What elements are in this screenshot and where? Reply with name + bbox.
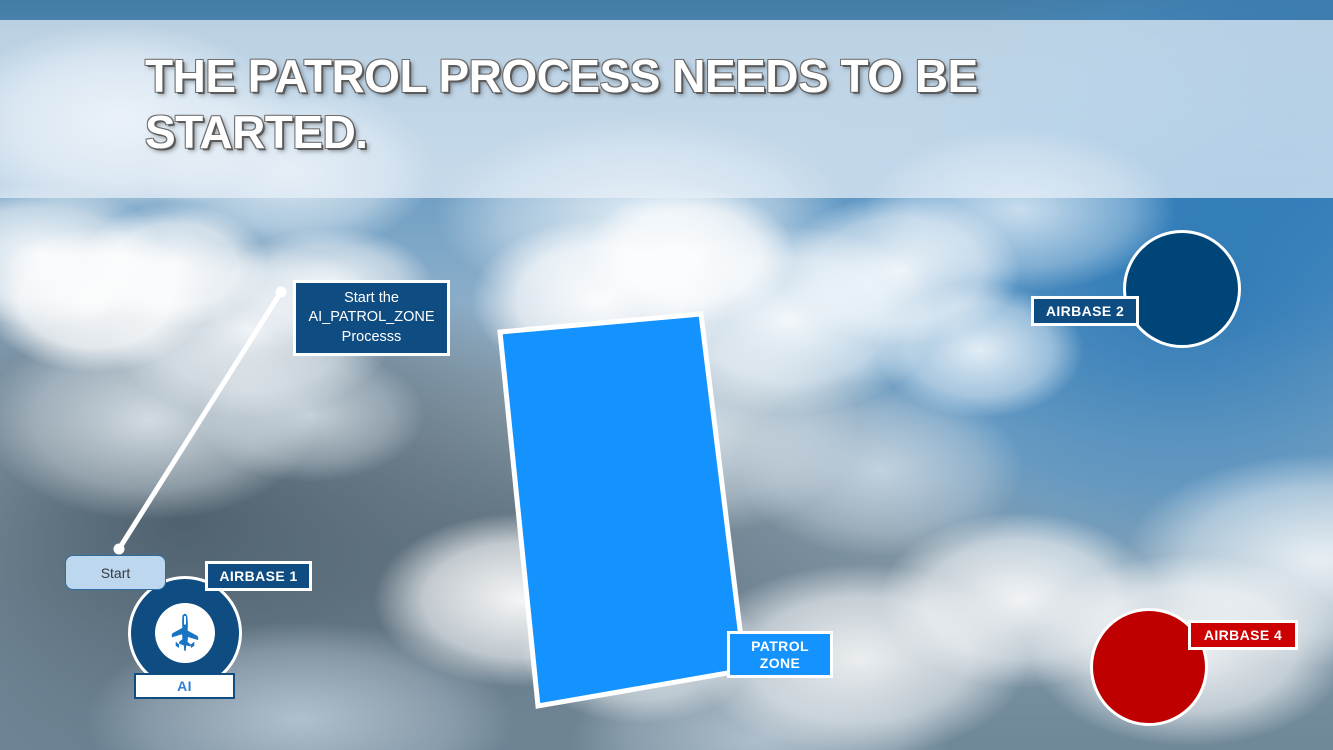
- airbase-4-label[interactable]: AIRBASE 4: [1188, 620, 1298, 650]
- fighter-jet-icon: [163, 611, 207, 655]
- airbase-1-label[interactable]: AIRBASE 1: [205, 561, 312, 591]
- ai-label[interactable]: AI: [134, 673, 235, 699]
- airbase-2-label-text: AIRBASE 2: [1046, 303, 1124, 319]
- callout-box[interactable]: Start the AI_PATROL_ZONE Processs: [293, 280, 450, 356]
- patrol-zone-label[interactable]: PATROL ZONE: [727, 631, 833, 678]
- page-title: THE PATROL PROCESS NEEDS TO BE STARTED.: [145, 48, 1145, 160]
- patrol-zone-label-line-2: ZONE: [760, 655, 801, 671]
- callout-line-3: Processs: [342, 328, 402, 347]
- airbase-2-label[interactable]: AIRBASE 2: [1031, 296, 1139, 326]
- ai-label-text: AI: [177, 678, 192, 694]
- callout-line-2: AI_PATROL_ZONE: [309, 308, 435, 327]
- jet-icon-disc: [155, 603, 215, 663]
- start-button[interactable]: Start: [65, 555, 166, 590]
- airbase-2-circle[interactable]: [1123, 230, 1241, 348]
- slide-canvas: THE PATROL PROCESS NEEDS TO BE STARTED. …: [0, 0, 1333, 750]
- airbase-1-label-text: AIRBASE 1: [219, 568, 297, 584]
- callout-line-1: Start the: [344, 289, 399, 308]
- patrol-zone-label-line-1: PATROL: [751, 638, 809, 654]
- start-button-label: Start: [101, 565, 131, 581]
- airbase-4-label-text: AIRBASE 4: [1204, 627, 1282, 643]
